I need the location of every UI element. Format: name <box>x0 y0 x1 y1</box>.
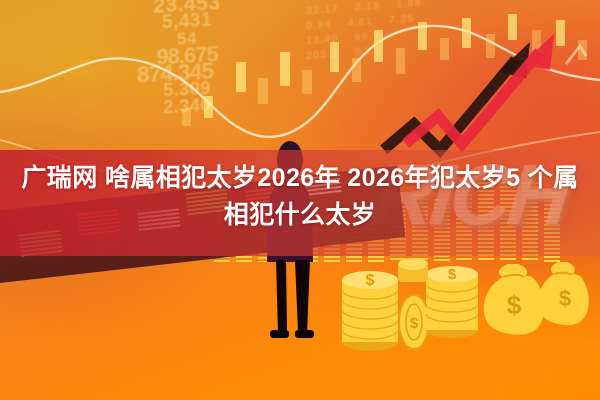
page-title: 广瑞网 啥属相犯太岁2026年 2026年犯太岁5 个属相犯什么太岁 <box>0 160 600 234</box>
coin-icon: $ <box>399 295 429 349</box>
coin-icon <box>398 258 428 282</box>
svg-text:$: $ <box>410 315 419 332</box>
banner-image: 23.453 5,431 54 98.675 874.345 5.309 2.3… <box>0 0 600 400</box>
svg-text:$: $ <box>507 290 522 320</box>
money-bag-icon: $ <box>484 264 545 335</box>
svg-text:$: $ <box>448 266 457 283</box>
money-bag-icon: $ <box>538 262 589 325</box>
money-illustration: $ $ $ $ <box>0 246 600 366</box>
coin-stack-icon: $ <box>426 266 478 338</box>
svg-text:$: $ <box>366 272 375 289</box>
coin-stack-icon: $ <box>342 271 398 351</box>
svg-text:$: $ <box>559 286 571 311</box>
headline-line-1: 广瑞网 啥属相犯太岁2026年 2026年犯太岁5 <box>21 164 520 192</box>
